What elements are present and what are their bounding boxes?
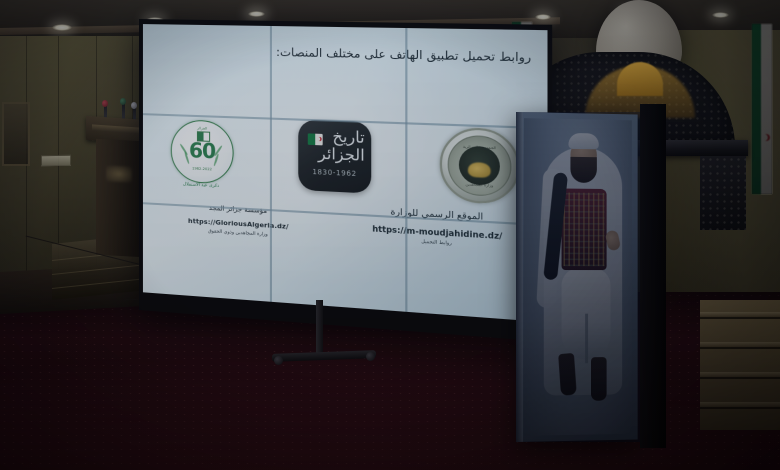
wall-picture-frame [2, 102, 30, 166]
ceiling-light [712, 12, 729, 18]
stand-caster [274, 356, 283, 365]
flag-shadow [752, 24, 772, 194]
standing-portrait-banner [516, 112, 638, 442]
video-wall[interactable]: روابط تحميل تطبيق الهاتف على مختلف المنص… [139, 19, 552, 342]
figure-turban [568, 133, 598, 149]
microphone-head [102, 100, 108, 107]
wall-plaque [41, 155, 71, 167]
banner-right-shadow [640, 104, 666, 448]
display-stand-pole [316, 300, 323, 358]
stand-caster [366, 352, 375, 361]
figure-trouser-fold [585, 314, 588, 364]
conference-hall-scene: روابط تحميل تطبيق الهاتف على مختلف المنص… [0, 0, 780, 470]
figure-boot-right [591, 357, 607, 401]
ceiling-light [52, 24, 72, 31]
ceiling-light [248, 11, 265, 17]
banner-image [524, 118, 632, 436]
screen-reflection [143, 24, 548, 322]
arch-pillar-lattice [700, 156, 746, 230]
figure-embroidery [564, 193, 605, 267]
banner-frame-edge [516, 112, 523, 442]
lectern-body [96, 139, 144, 258]
ceiling-light [535, 14, 551, 20]
figure-beard [570, 157, 596, 183]
stairs-shadow [700, 300, 780, 430]
microphone-head [131, 102, 137, 109]
microphone-head [120, 98, 126, 105]
lectern-emblem [106, 165, 132, 182]
figure-boot-left [558, 353, 577, 396]
video-wall-screen[interactable]: روابط تحميل تطبيق الهاتف على مختلف المنص… [143, 24, 548, 322]
